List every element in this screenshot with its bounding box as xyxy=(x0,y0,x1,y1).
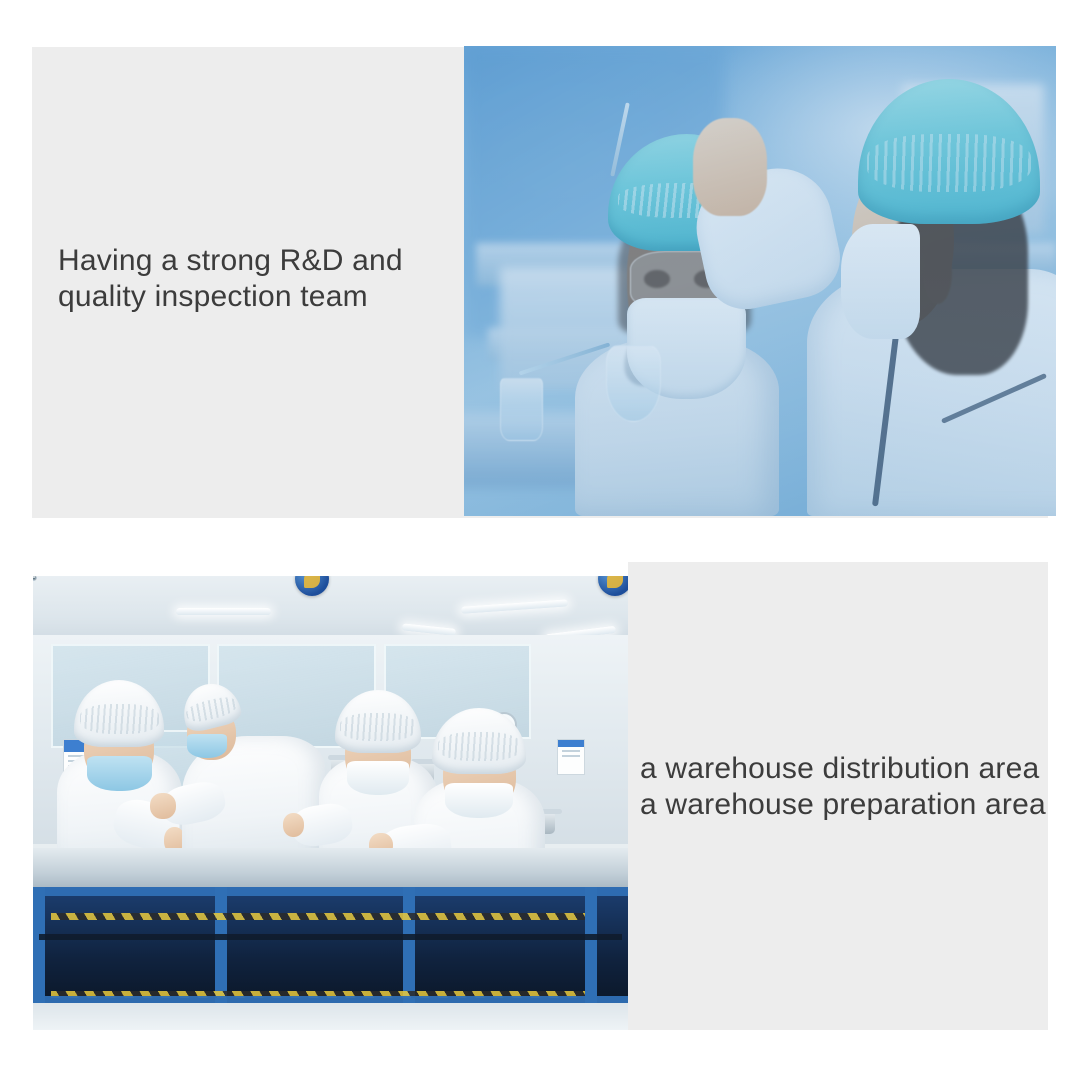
table-leg xyxy=(403,887,415,1005)
worker-hand xyxy=(150,793,176,819)
wall-notice xyxy=(557,739,585,775)
table-leg xyxy=(215,887,227,1005)
lab-flask xyxy=(606,345,661,422)
face-mask xyxy=(87,756,152,792)
face-mask xyxy=(445,783,513,819)
lab-technician-profile xyxy=(790,74,1056,516)
table-leg xyxy=(585,887,597,1005)
hairnet xyxy=(432,708,526,775)
warehouse-caption-line1: a warehouse distribution area xyxy=(640,752,1039,785)
page-root: Having a strong R&D and quality inspecti… xyxy=(0,0,1080,1080)
rnd-caption-line2: quality inspection team xyxy=(58,280,368,313)
face-mask xyxy=(187,734,227,758)
table-under-frame xyxy=(33,887,628,1005)
rnd-caption: Having a strong R&D and quality inspecti… xyxy=(58,243,403,315)
warehouse-photo xyxy=(33,576,628,1030)
gloved-hand xyxy=(693,118,767,215)
lab-beaker xyxy=(500,378,543,441)
ceiling-light xyxy=(176,608,271,615)
warehouse-caption: a warehouse distribution area a warehous… xyxy=(640,751,1046,823)
worker-hand xyxy=(283,813,304,837)
notice-line xyxy=(562,750,580,752)
notice-line xyxy=(562,755,580,757)
warehouse-floor xyxy=(33,1003,628,1030)
hairnet xyxy=(74,680,164,747)
face-mask xyxy=(347,761,409,795)
blue-hairnet xyxy=(858,79,1040,225)
notice-header xyxy=(558,740,584,747)
warehouse-caption-line2: a warehouse preparation area xyxy=(640,788,1046,821)
table-rail-top xyxy=(33,887,628,896)
warehouse-ceiling xyxy=(33,576,628,644)
face-mask xyxy=(841,224,921,339)
floor-hazard-tape xyxy=(51,913,585,920)
table-crossbar xyxy=(39,934,622,940)
hairnet xyxy=(335,690,421,754)
rnd-caption-line1: Having a strong R&D and xyxy=(58,244,403,277)
lab-quality-photo xyxy=(464,46,1056,516)
eye-left xyxy=(644,270,670,288)
table-leg xyxy=(33,887,45,1005)
